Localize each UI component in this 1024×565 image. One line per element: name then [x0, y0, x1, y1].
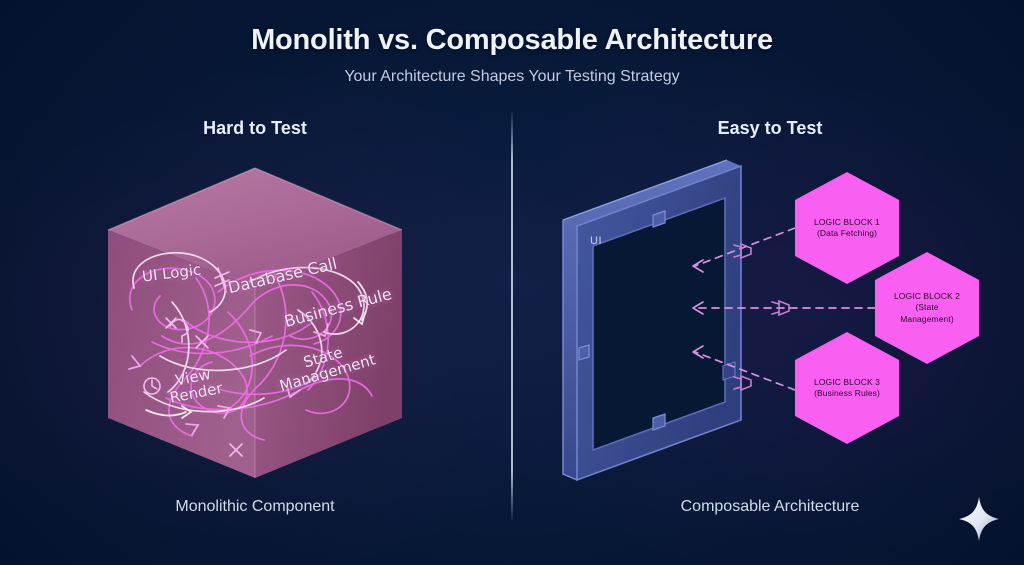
logic-block-1-subtitle: (Data Fetching)	[799, 228, 895, 239]
connector-line-1	[695, 228, 795, 266]
panel-caption-right: Composable Architecture	[600, 498, 940, 516]
plug-icon	[734, 244, 751, 258]
panel-heading-left: Hard to Test	[105, 118, 405, 139]
panel-heading-right: Easy to Test	[620, 118, 920, 139]
logic-block-3-subtitle: (Business Rules)	[799, 388, 895, 399]
logic-block-2-text: LOGIC BLOCK 2 (State Management)	[879, 291, 975, 325]
slide-canvas: Monolith vs. Composable Architecture You…	[0, 0, 1024, 565]
page-subtitle: Your Architecture Shapes Your Testing St…	[0, 68, 1024, 86]
logic-block-3-title: LOGIC BLOCK 3	[814, 377, 880, 387]
logic-block-2-title: LOGIC BLOCK 2	[894, 291, 960, 301]
logic-block-1-text: LOGIC BLOCK 1 (Data Fetching)	[799, 217, 895, 240]
monolith-cube-illustration: UI Logic Database Call Business Rule Sta…	[100, 160, 410, 480]
cube-svg	[100, 160, 410, 480]
plug-icon-group	[734, 244, 789, 390]
logic-block-2-subtitle: (State Management)	[879, 302, 975, 325]
panel-caption-left: Monolithic Component	[85, 498, 425, 516]
logic-block-1-title: LOGIC BLOCK 1	[814, 217, 880, 227]
sparkle-icon	[958, 496, 1000, 542]
vertical-divider	[511, 112, 513, 520]
page-title: Monolith vs. Composable Architecture	[0, 24, 1024, 57]
composable-architecture-illustration: UI	[545, 150, 1015, 490]
logic-block-3-text: LOGIC BLOCK 3 (Business Rules)	[799, 377, 895, 400]
plug-icon	[734, 376, 751, 390]
connector-line-3	[695, 352, 795, 390]
connector-arrowheads	[693, 260, 703, 358]
